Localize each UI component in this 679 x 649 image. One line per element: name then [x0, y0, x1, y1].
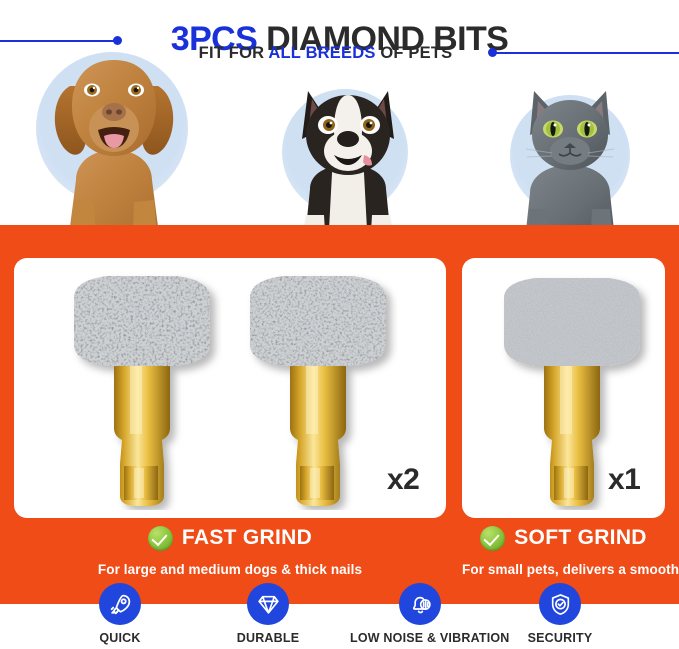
quantity-label-right: x1 — [608, 465, 640, 495]
grind-head: FAST GRIND — [14, 524, 446, 552]
grind-mode-soft-grind: SOFT GRIND For small pets, delivers a sm… — [462, 524, 665, 578]
features-row: QUICK DURABLE LOW NOISE & VIBRATION — [0, 583, 679, 649]
grind-description: For large and medium dogs & thick nails — [14, 561, 446, 578]
shield-check-icon — [539, 583, 581, 625]
diamond-gem-icon — [247, 583, 289, 625]
grind-title: SOFT GRIND — [514, 526, 647, 550]
grind-mode-fast-grind: FAST GRIND For large and medium dogs & t… — [14, 524, 446, 578]
feature-label: LOW NOISE & VIBRATION — [350, 631, 490, 646]
rocket-icon — [99, 583, 141, 625]
feature-quick: QUICK — [60, 583, 180, 646]
grind-title: FAST GRIND — [182, 526, 312, 550]
quantity-label-left: x2 — [387, 465, 419, 495]
grind-description: For small pets, delivers a smooth finish — [462, 561, 665, 578]
pet-photo-vizsla-dog — [24, 52, 204, 252]
feature-security: SECURITY — [500, 583, 620, 646]
green-check-badge-icon — [148, 526, 173, 551]
pets-strip — [0, 52, 679, 252]
coarse-diamond-bit-2 — [238, 268, 398, 510]
feature-label: DURABLE — [208, 631, 328, 646]
grind-head: SOFT GRIND — [462, 524, 665, 552]
feature-durable: DURABLE — [208, 583, 328, 646]
coarse-diamond-bit-1 — [62, 268, 222, 510]
feature-label: SECURITY — [500, 631, 620, 646]
vizsla-dog-illustration — [24, 52, 204, 252]
bell-sound-icon — [399, 583, 441, 625]
green-check-badge-icon — [480, 526, 505, 551]
feature-label: QUICK — [60, 631, 180, 646]
feature-low-noise: LOW NOISE & VIBRATION — [350, 583, 490, 646]
